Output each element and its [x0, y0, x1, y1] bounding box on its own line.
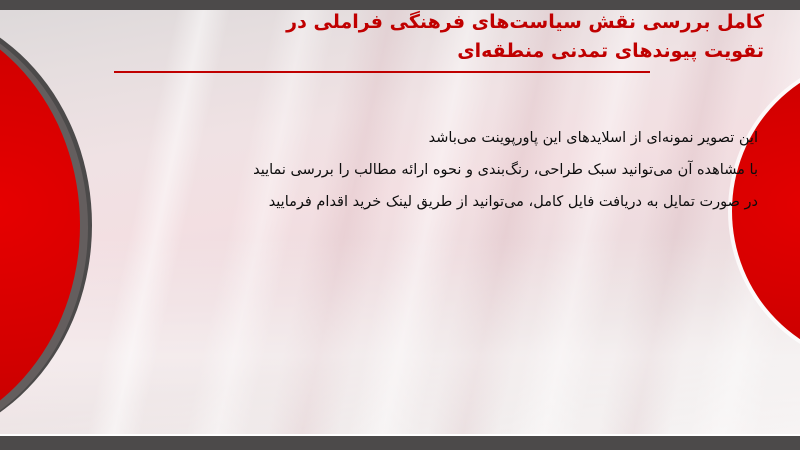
slide-title-line-1: کامل بررسی نقش سیاست‌های فرهنگی فراملی د…	[100, 8, 764, 37]
slide-body-line-1: این تصویر نمونه‌ای از اسلایدهای این پاور…	[110, 122, 758, 154]
slide-body: این تصویر نمونه‌ای از اسلایدهای این پاور…	[110, 122, 758, 218]
slide-background	[0, 0, 800, 450]
slide-body-line-2: با مشاهده آن می‌توانید سبک طراحی، رنگ‌بن…	[110, 154, 758, 186]
slide-title-line-2: تقویت پیوندهای تمدنی منطقه‌ای	[100, 37, 764, 66]
slide-title: کامل بررسی نقش سیاست‌های فرهنگی فراملی د…	[100, 8, 764, 66]
title-underline-rule	[114, 71, 650, 73]
bottom-rail	[0, 436, 800, 450]
presentation-slide: کامل بررسی نقش سیاست‌های فرهنگی فراملی د…	[0, 0, 800, 450]
slide-body-line-3: در صورت تمایل به دریافت فایل کامل، می‌تو…	[110, 186, 758, 218]
